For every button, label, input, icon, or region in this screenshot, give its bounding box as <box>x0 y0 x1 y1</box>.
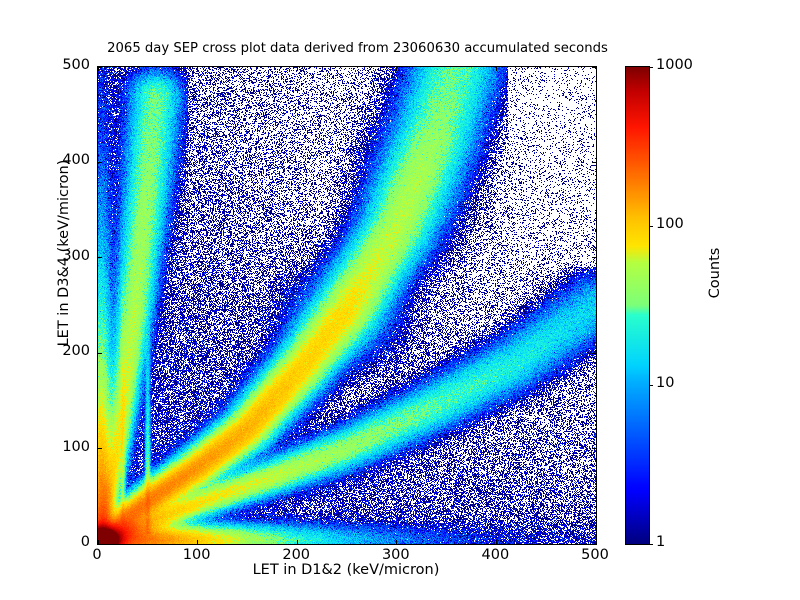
y-axis-title: LET in D3&4 (keV/micron) <box>56 123 72 383</box>
x-tickmark <box>98 67 99 71</box>
colorbar-tick-label: 1 <box>656 534 665 550</box>
colorbar-tickmark <box>649 67 653 68</box>
x-tickmark <box>197 67 198 71</box>
title-line-1: 2065 day SEP cross plot data derived fro… <box>0 40 715 58</box>
y-tickmark <box>592 257 596 258</box>
y-tick-label: 500 <box>40 57 90 73</box>
x-tick-label: 400 <box>455 547 535 563</box>
x-tick-label: 0 <box>57 547 137 563</box>
colorbar-tickmark <box>649 226 653 227</box>
y-tickmark <box>98 257 102 258</box>
x-tick-label: 300 <box>356 547 436 563</box>
colorbar-tickmark <box>649 385 653 386</box>
plot-area <box>97 66 597 545</box>
x-tickmark <box>297 540 298 544</box>
x-tickmark <box>596 67 597 71</box>
y-tickmark <box>98 67 102 68</box>
x-axis-title: LET in D1&2 (keV/micron) <box>97 562 595 578</box>
y-tickmark <box>98 448 102 449</box>
colorbar-tick-label: 100 <box>656 216 684 232</box>
x-tickmark <box>396 67 397 71</box>
x-tick-label: 200 <box>256 547 336 563</box>
y-tickmark <box>98 544 102 545</box>
colorbar-gradient <box>626 67 649 544</box>
x-tickmark <box>396 540 397 544</box>
x-tick-label: 100 <box>157 547 237 563</box>
y-tickmark <box>592 353 596 354</box>
x-tickmark <box>596 540 597 544</box>
colorbar-tickmark <box>649 544 653 545</box>
colorbar-title: Counts <box>707 198 723 348</box>
y-tickmark <box>592 162 596 163</box>
y-tick-label: 100 <box>40 439 90 455</box>
colorbar <box>625 66 650 545</box>
x-tickmark <box>197 540 198 544</box>
x-tickmark <box>496 540 497 544</box>
y-tickmark <box>98 353 102 354</box>
x-tickmark <box>496 67 497 71</box>
colorbar-tick-label: 10 <box>656 375 674 391</box>
density-heatmap-canvas <box>98 67 596 544</box>
y-tickmark <box>98 162 102 163</box>
figure-root: 2065 day SEP cross plot data derived fro… <box>0 0 800 600</box>
x-tickmark <box>297 67 298 71</box>
x-tickmark <box>98 540 99 544</box>
colorbar-tick-label: 1000 <box>656 57 693 73</box>
x-tick-label: 500 <box>555 547 635 563</box>
y-tickmark <box>592 448 596 449</box>
